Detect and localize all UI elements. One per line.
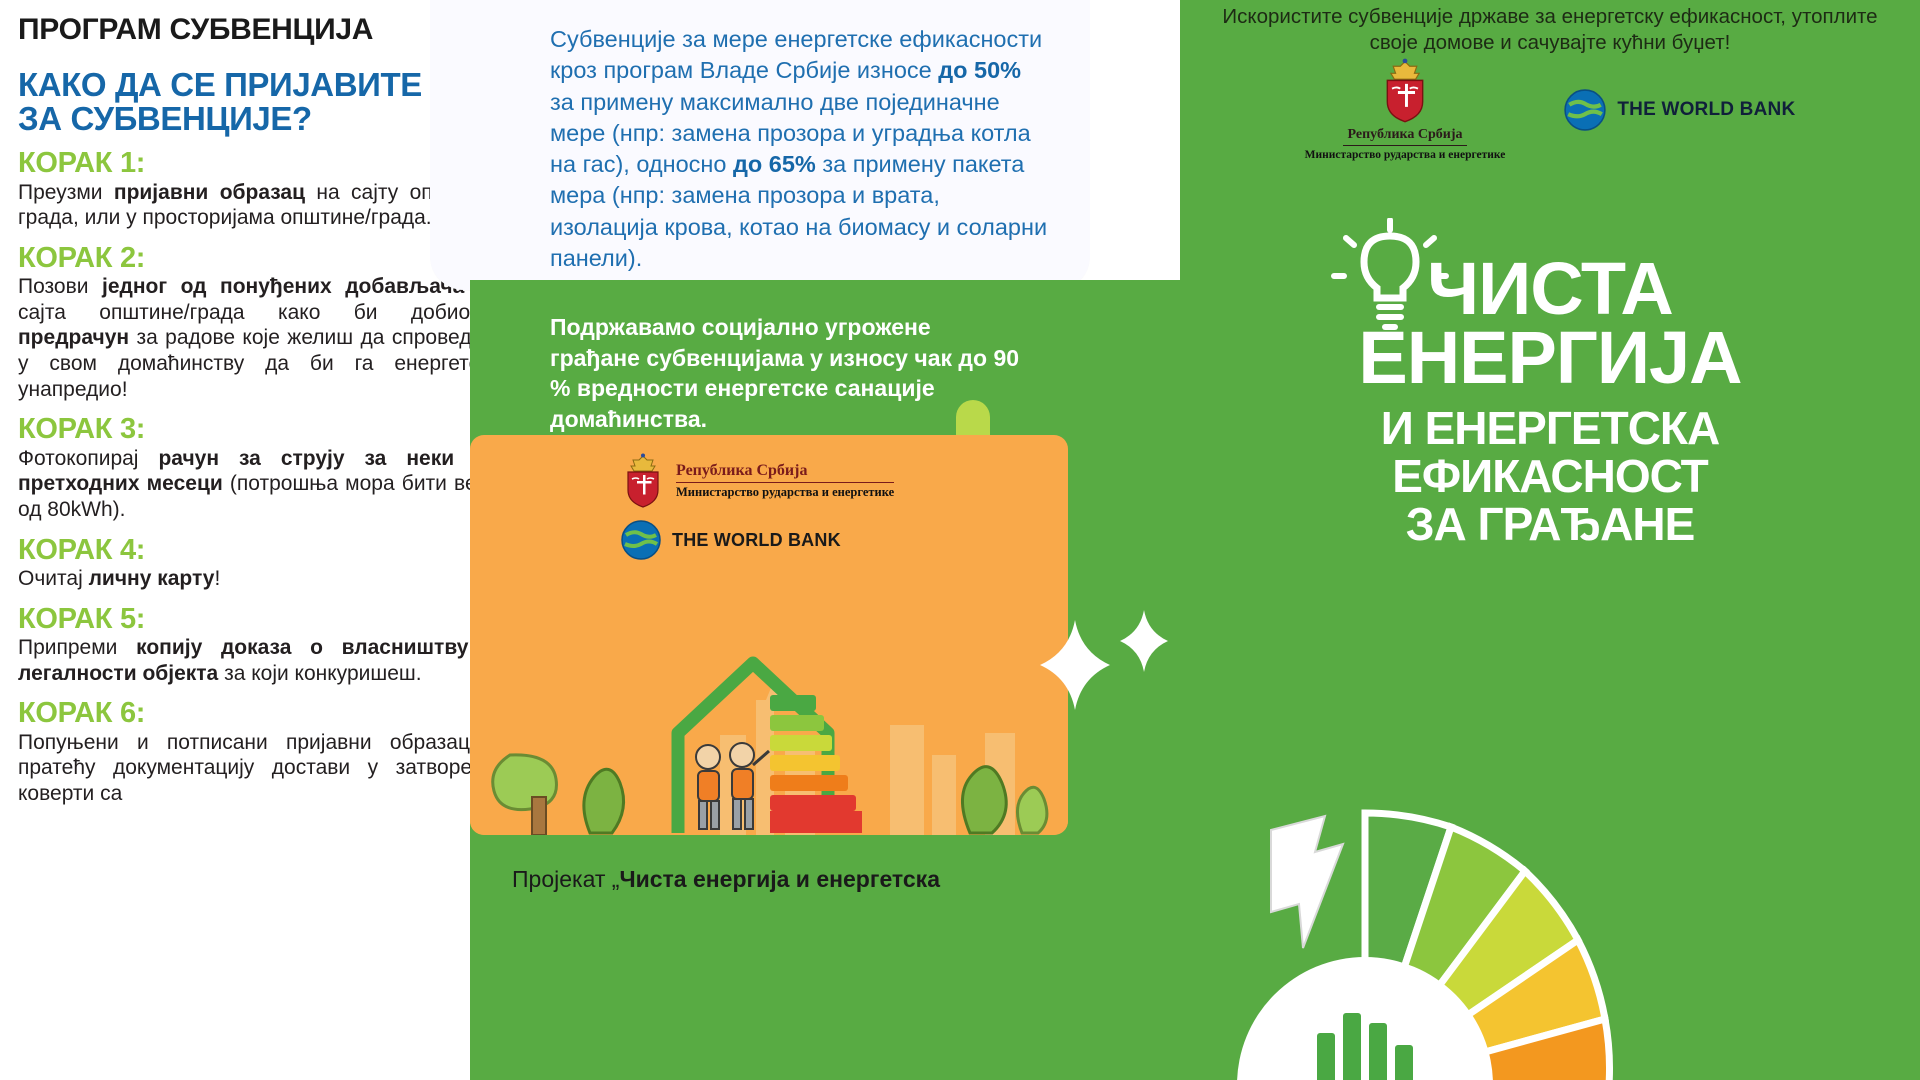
step-4: КОРАК 4: Очитај личну карту! <box>18 535 500 592</box>
step-3-body: Фотокопирај рачун за струју за неки од п… <box>18 446 500 523</box>
subsidy-info-card: Субвенције за мере енергетске ефикасност… <box>430 0 1090 290</box>
project-caption: Пројекат „Чиста енергија и енергетска <box>512 865 1052 894</box>
subsidy-info-text: Субвенције за мере енергетске ефикасност… <box>550 24 1050 274</box>
program-title: ПРОГРАМ СУБВЕНЦИЈА <box>18 14 500 46</box>
serbia-republic-label: Република Србија <box>1343 124 1466 146</box>
step-4-body: Очитај личну карту! <box>18 566 500 592</box>
serbia-logo: Република Србија Министарство рударства … <box>1305 58 1506 162</box>
world-bank-globe-icon <box>620 519 662 561</box>
infographic-page: ПРОГРАМ СУБВЕНЦИЈА КАКО ДА СЕ ПРИЈАВИТЕ … <box>0 0 1920 1080</box>
world-bank-label: THE WORLD BANK <box>672 530 841 551</box>
step-2: КОРАК 2: Позови једног од понуђених доба… <box>18 243 500 402</box>
step-5: КОРАК 5: Припреми копију доказа о власни… <box>18 604 500 687</box>
step-2-label: КОРАК 2: <box>18 243 500 273</box>
energy-rating-gauge <box>1065 615 1665 1080</box>
serbia-coat-of-arms-icon <box>1377 58 1433 124</box>
step-5-body: Припреми копију доказа о власништву и ле… <box>18 635 500 686</box>
step-6-body: Попуњени и потписани пријавни образац и … <box>18 730 500 807</box>
main-title: ЧИСТА ЕНЕРГИЈА И ЕНЕРГЕТСКА ЕФИКАСНОСТ З… <box>1180 255 1920 549</box>
title-line-3: И ЕНЕРГЕТСКА <box>1180 405 1920 453</box>
world-bank-logo-row: THE WORLD BANK <box>620 519 894 561</box>
gauge-arrow-icon <box>1271 816 1343 948</box>
step-3-label: КОРАК 3: <box>18 414 500 444</box>
step-2-body: Позови једног од понуђених добављача са … <box>18 274 500 402</box>
step-5-label: КОРАК 5: <box>18 604 500 634</box>
step-1: КОРАК 1: Преузми пријавни образац на сај… <box>18 148 500 231</box>
title-line-1: ЧИСТА <box>1180 255 1920 323</box>
how-title-line-1: КАКО ДА СЕ ПРИЈАВИТЕ <box>18 68 500 102</box>
world-bank-globe-icon <box>1563 88 1607 132</box>
title-line-2: ЕНЕРГИЈА <box>1180 323 1920 393</box>
orange-card-logos: Република Србија Министарство рударства … <box>620 453 894 561</box>
step-6: КОРАК 6: Попуњени и потписани пријавни о… <box>18 698 500 806</box>
social-support-text: Подржавамо социјално угрожене грађане су… <box>550 312 1020 434</box>
world-bank-label: THE WORLD BANK <box>1617 99 1795 121</box>
step-1-body: Преузми пријавни образац на сајту општин… <box>18 180 500 231</box>
serbia-coat-of-arms-icon <box>620 453 666 509</box>
how-title-line-2: ЗА СУБВЕНЦИЈЕ? <box>18 102 500 136</box>
title-line-5: ЗА ГРАЂАНЕ <box>1180 501 1920 549</box>
serbia-ministry-label: Министарство рударства и енергетике <box>676 486 894 499</box>
illustration-card: Република Србија Министарство рударства … <box>470 435 1068 835</box>
serbia-ministry-text: Република Србија Министарство рударства … <box>676 463 894 499</box>
house-illustration <box>470 605 1068 835</box>
world-bank-logo: THE WORLD BANK <box>1563 88 1795 132</box>
title-line-4: ЕФИКАСНОСТ <box>1180 453 1920 501</box>
step-1-label: КОРАК 1: <box>18 148 500 178</box>
right-panel-logos: Република Србија Министарство рударства … <box>1180 58 1920 162</box>
how-to-apply-title: КАКО ДА СЕ ПРИЈАВИТЕ ЗА СУБВЕНЦИЈЕ? <box>18 68 500 137</box>
step-3: КОРАК 3: Фотокопирај рачун за струју за … <box>18 414 500 522</box>
step-6-label: КОРАК 6: <box>18 698 500 728</box>
serbia-logo-row: Република Србија Министарство рударства … <box>620 453 894 509</box>
intro-text: Искористите субвенције државе за енергет… <box>1200 4 1900 55</box>
serbia-ministry-label: Министарство рударства и енергетике <box>1305 149 1506 162</box>
serbia-republic-label: Република Србија <box>676 463 894 483</box>
step-4-label: КОРАК 4: <box>18 535 500 565</box>
